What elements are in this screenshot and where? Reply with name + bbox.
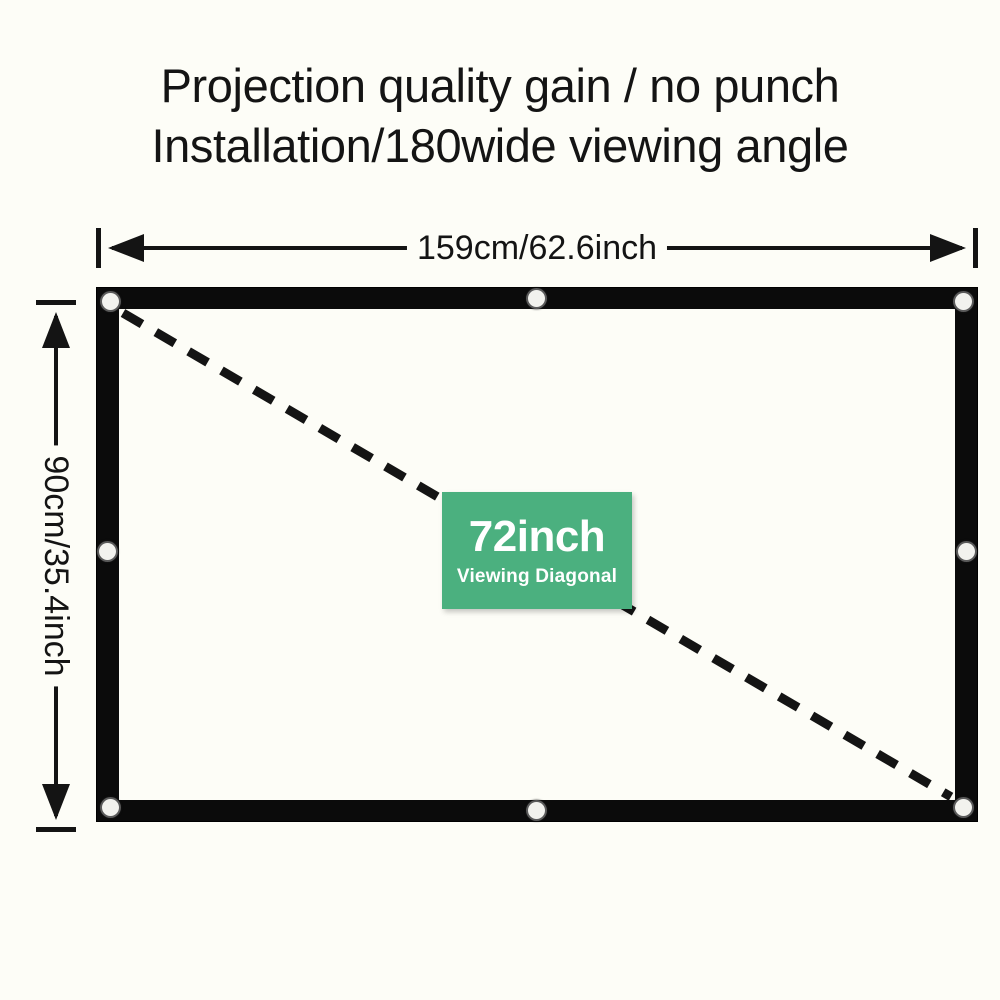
arrow-left-icon [108, 234, 144, 262]
diagonal-caption: Viewing Diagonal [457, 565, 617, 589]
grommet-top-right [955, 293, 972, 310]
grommet-bottom-right [955, 799, 972, 816]
grommet-right-middle [958, 543, 975, 560]
height-dimension: 90cm/35.4inch [33, 300, 79, 832]
grommet-top-left [102, 293, 119, 310]
page-title: Projection quality gain / no punch Insta… [0, 56, 1000, 176]
arrow-up-icon [42, 312, 70, 348]
height-extension-tick-top [36, 300, 76, 305]
grommet-top-center [528, 290, 545, 307]
viewing-diagonal-badge: 72inch Viewing Diagonal [442, 492, 632, 609]
product-diagram: Projection quality gain / no punch Insta… [0, 0, 1000, 1000]
width-extension-tick-left [96, 228, 101, 268]
arrow-down-icon [42, 784, 70, 820]
grommet-left-middle [99, 543, 116, 560]
height-dimension-label: 90cm/35.4inch [33, 445, 79, 686]
diagonal-size-value: 72inch [469, 513, 605, 561]
grommet-bottom-center [528, 802, 545, 819]
arrow-right-icon [930, 234, 966, 262]
width-extension-tick-right [973, 228, 978, 268]
headline-line-2: Installation/180wide viewing angle [0, 116, 1000, 176]
height-extension-tick-bottom [36, 827, 76, 832]
grommet-bottom-left [102, 799, 119, 816]
headline-line-1: Projection quality gain / no punch [0, 56, 1000, 116]
width-dimension-label: 159cm/62.6inch [407, 221, 667, 275]
width-dimension: 159cm/62.6inch [96, 228, 978, 274]
